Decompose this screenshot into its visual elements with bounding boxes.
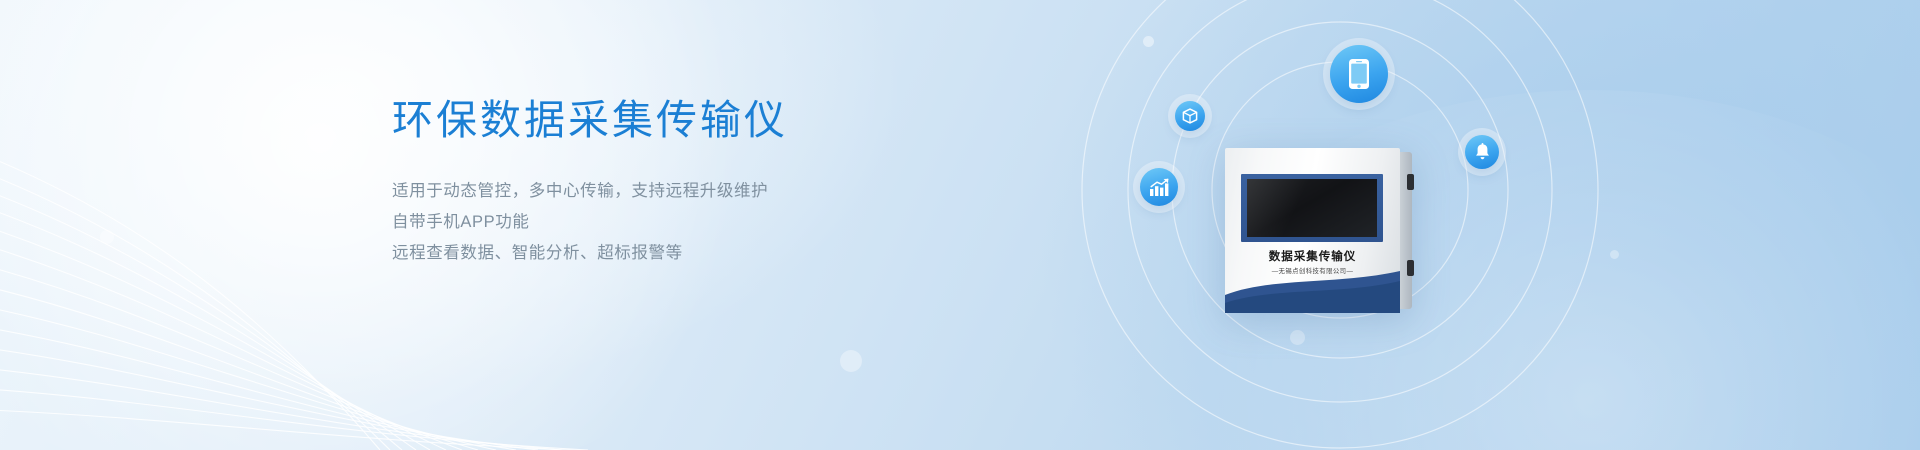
device-hinge-icon bbox=[1407, 260, 1414, 276]
device-screen bbox=[1247, 179, 1377, 237]
hero-subtitle-line-3: 远程查看数据、智能分析、超标报警等 bbox=[392, 238, 992, 269]
hero-subtitle-list: 适用于动态管控，多中心传输，支持远程升级维护 自带手机APP功能 远程查看数据、… bbox=[392, 176, 992, 269]
hero-subtitle-line-2: 自带手机APP功能 bbox=[392, 207, 992, 238]
page-title: 环保数据采集传输仪 bbox=[392, 96, 992, 144]
device-cabinet: 数据采集传输仪 —无锡点创科技有限公司— bbox=[1225, 148, 1400, 313]
hero-copy-block: 环保数据采集传输仪 适用于动态管控，多中心传输，支持远程升级维护 自带手机APP… bbox=[392, 96, 992, 269]
bokeh-bubble bbox=[840, 350, 862, 372]
bar-chart-icon[interactable] bbox=[1140, 168, 1178, 206]
bokeh-bubble bbox=[100, 230, 114, 244]
product-hero-banner: 环保数据采集传输仪 适用于动态管控，多中心传输，支持远程升级维护 自带手机APP… bbox=[0, 0, 1920, 450]
box-cube-icon[interactable] bbox=[1175, 101, 1205, 131]
alarm-bell-icon[interactable] bbox=[1465, 135, 1499, 169]
bokeh-bubble bbox=[1143, 36, 1154, 47]
device-wave-graphic bbox=[1225, 269, 1400, 313]
product-image: 数据采集传输仪 —无锡点创科技有限公司— bbox=[1225, 148, 1400, 313]
bokeh-bubble bbox=[1610, 250, 1619, 259]
bokeh-bubble bbox=[1290, 330, 1305, 345]
mobile-phone-icon[interactable] bbox=[1330, 45, 1388, 103]
device-hinge-icon bbox=[1407, 174, 1414, 190]
hero-subtitle-line-1: 适用于动态管控，多中心传输，支持远程升级维护 bbox=[392, 176, 992, 207]
device-screen-bezel bbox=[1241, 174, 1383, 242]
device-brand-label: 数据采集传输仪 bbox=[1225, 248, 1400, 264]
